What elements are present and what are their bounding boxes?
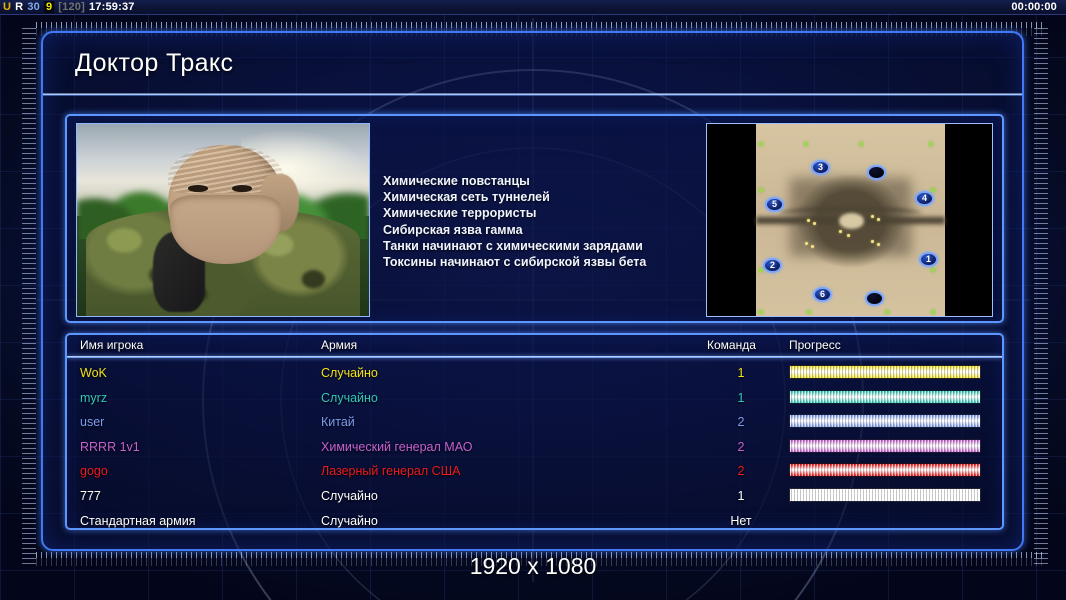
game-setup-window: Доктор Тракс Химические повстанцы Химиче… <box>41 31 1024 551</box>
description-line: Химические террористы <box>383 205 703 221</box>
description-line: Токсины начинают с сибирской язвы бета <box>383 254 703 270</box>
description-line: Танки начинают с химическими зарядами <box>383 238 703 254</box>
status-prefix-u: U <box>3 1 11 13</box>
player-army: Случайно <box>321 391 378 405</box>
table-row[interactable]: myrzСлучайно1 <box>67 387 1002 412</box>
player-name: myrz <box>80 391 107 405</box>
minimap-resource-dot <box>805 242 808 245</box>
description-line: Химические повстанцы <box>383 173 703 189</box>
portrait-eye-left <box>188 185 208 192</box>
progress-bar-fill <box>789 463 981 477</box>
player-name: user <box>80 415 104 429</box>
status-bar-left: UR 30 9 [120] 17:59:37 <box>3 1 135 13</box>
player-progress <box>789 463 981 477</box>
minimap-start-position-6[interactable]: 6 <box>813 287 832 302</box>
player-name: gogo <box>80 464 108 478</box>
portrait-eye-right <box>232 185 252 192</box>
minimap-supply-dot <box>931 310 935 314</box>
minimap-supply-dot <box>929 142 933 146</box>
minimap-supply-dot <box>804 142 808 146</box>
table-row[interactable]: Стандартная армияСлучайноНет <box>67 510 1002 530</box>
player-army: Лазерный генерал США <box>321 464 460 478</box>
minimap-start-position-1[interactable]: 1 <box>919 252 938 267</box>
player-name: 777 <box>80 489 101 503</box>
minimap-start-position-2[interactable]: 2 <box>763 258 782 273</box>
minimap-supply-dot <box>759 268 763 272</box>
minimap-supply-dot <box>807 310 811 314</box>
player-team: Нет <box>730 514 752 528</box>
minimap-start-position-5[interactable]: 5 <box>765 197 784 212</box>
minimap-resource-dot <box>877 218 880 221</box>
resolution-label: 1920 x 1080 <box>0 553 1066 580</box>
players-table-header: Имя игрока Армия Команда Прогресс <box>67 335 1002 358</box>
ruler-left <box>22 28 36 564</box>
player-name: Стандартная армия <box>80 514 195 528</box>
player-progress <box>789 365 981 379</box>
ruler-right <box>1034 28 1048 564</box>
players-table-header-divider <box>67 356 1002 358</box>
status-clock: 17:59:37 <box>89 1 135 13</box>
column-header-progress: Прогресс <box>789 338 841 352</box>
table-row[interactable]: RRRR 1v1Химический генерал МАО2 <box>67 436 1002 461</box>
minimap-resource-dot <box>871 240 874 243</box>
status-prefix-r: R <box>15 1 23 13</box>
status-ping: 9 <box>44 1 54 13</box>
player-army: Химический генерал МАО <box>321 440 472 454</box>
minimap-start-position-empty[interactable] <box>867 165 886 180</box>
minimap-supply-dot <box>759 142 763 146</box>
minimap-resource-dot <box>871 215 874 218</box>
minimap-start-position-4[interactable]: 4 <box>915 191 934 206</box>
minimap-supply-dot <box>759 188 763 192</box>
player-team: 2 <box>730 464 752 478</box>
player-team: 2 <box>730 440 752 454</box>
progress-bar-fill <box>789 414 981 428</box>
page-title: Доктор Тракс <box>75 49 233 78</box>
minimap-supply-dot <box>885 310 889 314</box>
minimap-supply-dot <box>931 268 935 272</box>
minimap-start-position-3[interactable]: 3 <box>811 160 830 175</box>
minimap-supply-dot <box>759 310 763 314</box>
progress-bar-fill <box>789 488 981 502</box>
minimap-supply-dot <box>931 188 935 192</box>
table-row[interactable]: gogoЛазерный генерал США2 <box>67 460 1002 485</box>
player-team: 2 <box>730 415 752 429</box>
player-army: Случайно <box>321 489 378 503</box>
status-fps: 30 <box>27 1 40 13</box>
player-progress <box>789 488 981 502</box>
title-divider <box>43 93 1022 96</box>
player-team: 1 <box>730 366 752 380</box>
minimap-resource-dot <box>847 234 850 237</box>
minimap-resource-dot <box>839 230 842 233</box>
player-name: WoK <box>80 366 107 380</box>
minimap-center-feature <box>839 213 864 229</box>
status-timer: 00:00:00 <box>1011 1 1061 13</box>
minimap-start-position-empty[interactable] <box>865 291 884 306</box>
player-army: Случайно <box>321 366 378 380</box>
minimap-supply-dot <box>859 142 863 146</box>
commander-portrait <box>76 123 370 317</box>
progress-bar-fill <box>789 365 981 379</box>
player-name: RRRR 1v1 <box>80 440 140 454</box>
progress-bar-fill <box>789 439 981 453</box>
column-header-name: Имя игрока <box>80 338 143 352</box>
minimap-preview[interactable]: 354216 <box>706 123 993 317</box>
player-army: Случайно <box>321 514 378 528</box>
player-progress <box>789 439 981 453</box>
minimap-resource-dot <box>877 243 880 246</box>
column-header-team: Команда <box>707 338 756 352</box>
table-row[interactable]: 777Случайно1 <box>67 485 1002 510</box>
mission-info-panel: Химические повстанцы Химическая сеть тун… <box>65 114 1004 323</box>
progress-bar-fill <box>789 390 981 404</box>
players-table: Имя игрока Армия Команда Прогресс WoKСлу… <box>65 333 1004 530</box>
status-bar: UR 30 9 [120] 17:59:37 00:00:00 <box>0 0 1066 15</box>
minimap-resource-dot <box>807 219 810 222</box>
description-line: Химическая сеть туннелей <box>383 189 703 205</box>
player-team: 1 <box>730 489 752 503</box>
minimap-terrain <box>756 124 945 317</box>
player-team: 1 <box>730 391 752 405</box>
player-progress <box>789 414 981 428</box>
player-progress <box>789 390 981 404</box>
minimap-resource-dot <box>813 222 816 225</box>
column-header-army: Армия <box>321 338 357 352</box>
description-line: Сибирская язва гамма <box>383 222 703 238</box>
mission-description: Химические повстанцы Химическая сеть тун… <box>383 123 703 317</box>
minimap-resource-dot <box>811 245 814 248</box>
status-bracket: [120] <box>58 1 85 13</box>
player-army: Китай <box>321 415 355 429</box>
table-row[interactable]: userКитай2 <box>67 411 1002 436</box>
table-row[interactable]: WoKСлучайно1 <box>67 362 1002 387</box>
